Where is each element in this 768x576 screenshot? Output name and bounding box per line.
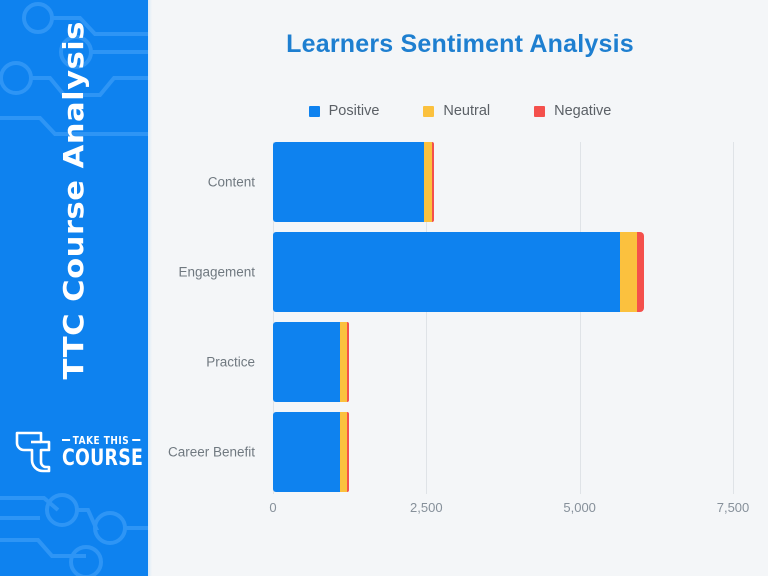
x-axis-tick-label: 7,500	[717, 500, 750, 515]
logo-wordmark: TAKE THIS COURSE	[62, 435, 148, 470]
bar-segment-positive[interactable]	[273, 412, 340, 492]
bar-segment-positive[interactable]	[273, 232, 620, 312]
x-axis-tick-label: 5,000	[563, 500, 596, 515]
dash-left-icon	[62, 439, 70, 441]
branding-sidebar: TTC Course Analysis TAKE THIS COURSE	[0, 0, 148, 576]
bar-segment-negative[interactable]	[347, 322, 349, 402]
logo-word: COURSE	[62, 448, 143, 470]
screenshot-root: TTC Course Analysis TAKE THIS COURSE Lea…	[0, 0, 768, 576]
bar-row[interactable]	[152, 412, 768, 492]
bar-segment-neutral[interactable]	[620, 232, 637, 312]
chart-panel: Learners Sentiment Analysis PositiveNeut…	[152, 0, 768, 576]
bar-row[interactable]	[152, 322, 768, 402]
logo-tagline: TAKE THIS	[73, 435, 129, 446]
bar-segment-negative[interactable]	[637, 232, 644, 312]
bar-segment-positive[interactable]	[273, 322, 340, 402]
dash-right-icon	[132, 439, 140, 441]
plot-area: 02,5005,0007,500ContentEngagementPractic…	[152, 0, 768, 576]
bar-segment-neutral[interactable]	[424, 142, 432, 222]
x-axis-tick-label: 0	[269, 500, 276, 515]
bar-row[interactable]	[152, 142, 768, 222]
bar-segment-positive[interactable]	[273, 142, 424, 222]
bar-segment-negative[interactable]	[347, 412, 349, 492]
sidebar-title-text: TTC Course Analysis	[58, 21, 91, 379]
brand-logo[interactable]: TAKE THIS COURSE	[14, 424, 140, 480]
ttc-t-logo-icon	[14, 430, 54, 474]
bar-segment-neutral[interactable]	[340, 322, 347, 402]
bar-segment-negative[interactable]	[432, 142, 434, 222]
sidebar-vertical-title: TTC Course Analysis	[0, 0, 148, 400]
logo-tagline-row: TAKE THIS	[62, 435, 140, 446]
bar-row[interactable]	[152, 232, 768, 312]
bar-segment-neutral[interactable]	[340, 412, 347, 492]
x-axis-tick-label: 2,500	[410, 500, 443, 515]
